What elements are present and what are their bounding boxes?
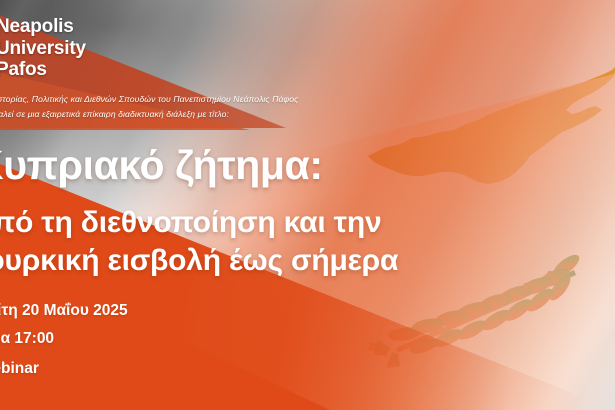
lecture-title: Κυπριακό ζήτημα:	[0, 141, 323, 189]
invitation-line-1: Το Τμήμα Ιστορίας, Πολιτικής και Διεθνών…	[0, 92, 298, 107]
subtitle-line-2: τουρκική εισβολή έως σήμερα	[0, 242, 398, 280]
university-logo: Neapolis University Pafos	[0, 16, 86, 81]
poster-content: Neapolis University Pafos Το Τμήμα Ιστορ…	[0, 0, 615, 410]
logo-line-3: Pafos	[0, 59, 86, 81]
subtitle-line-1: από τη διεθνοποίηση και την	[0, 204, 398, 242]
event-mode: Webinar	[0, 360, 39, 377]
logo-line-2: University	[0, 38, 86, 60]
event-poster: Neapolis University Pafos Το Τμήμα Ιστορ…	[0, 0, 615, 410]
invitation-text: Το Τμήμα Ιστορίας, Πολιτικής και Διεθνών…	[0, 92, 298, 121]
event-time: Ώρα 17:00	[0, 330, 54, 347]
logo-line-1: Neapolis	[0, 16, 86, 38]
event-date: Τρίτη 20 Μαΐου 2025	[0, 302, 128, 319]
invitation-line-2: σας προσκαλεί σε μια εξαιρετικά επίκαιρη…	[0, 107, 298, 122]
lecture-subtitle: από τη διεθνοποίηση και την τουρκική εισ…	[0, 204, 398, 280]
